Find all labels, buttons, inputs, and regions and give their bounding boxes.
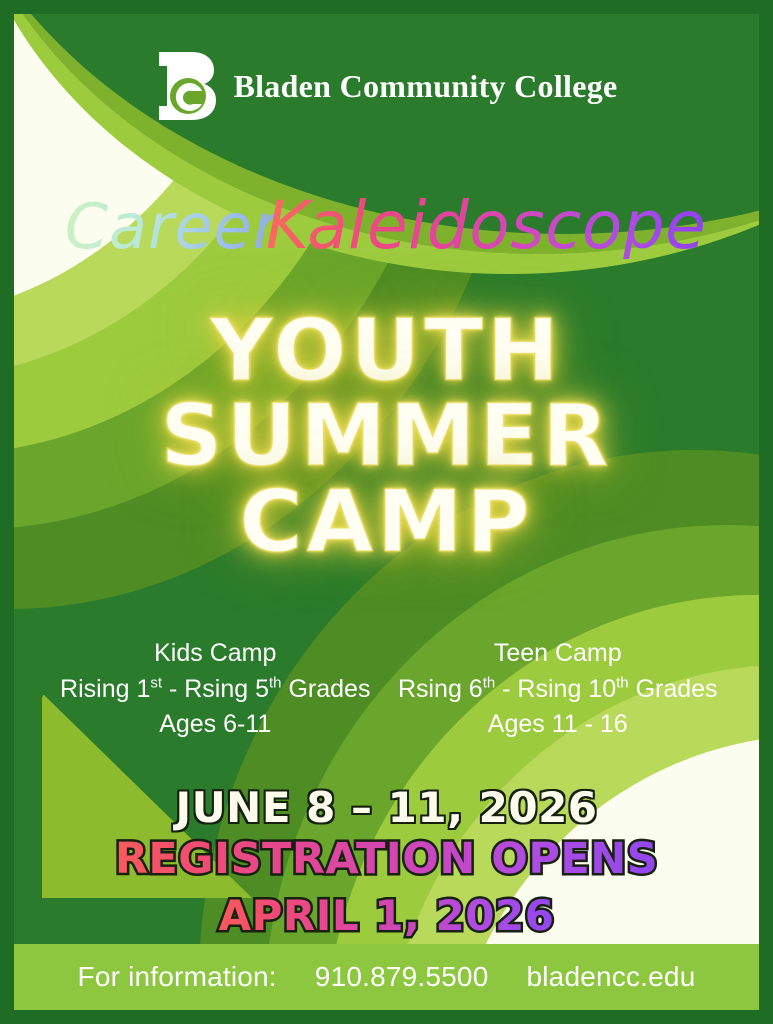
poster-inner-canvas: Bladen Community College Career Kaleidos… <box>14 14 759 1010</box>
camp-kids: Kids Camp Rising 1st - Rsing 5th Grades … <box>44 636 387 743</box>
camp-teen-ages: Ages 11 - 16 <box>387 707 730 743</box>
display-title-line-summer: SUMMER <box>14 395 759 478</box>
footer-contact-bar: For information: 910.879.5500 bladencc.e… <box>14 944 759 1010</box>
college-name: Bladen Community College <box>233 68 617 105</box>
camp-kids-grades-sup1: st <box>150 674 162 691</box>
registration-opens-label: REGISTRATION OPENS REGISTRATION OPENS <box>115 833 658 885</box>
bladen-b-logo-icon <box>155 50 217 122</box>
camp-kids-grades-sup2: th <box>269 674 282 691</box>
camp-kids-grades-suffix: Grades <box>282 675 371 703</box>
camp-kids-title: Kids Camp <box>44 636 387 672</box>
camp-teen-grades-mid: - Rsing 10 <box>495 675 616 703</box>
display-title-line-youth: YOUTH <box>14 310 759 393</box>
script-title-career: Career <box>65 196 280 258</box>
camp-teen-title: Teen Camp <box>387 636 730 672</box>
camp-dates: JUNE 8 – 11, 2026 <box>14 782 759 833</box>
footer-info-label: For information: <box>78 961 277 993</box>
camp-teen: Teen Camp Rsing 6th - Rsing 10th Grades … <box>387 636 730 743</box>
camp-teen-grades-suffix: Grades <box>629 675 718 703</box>
camp-kids-ages: Ages 6-11 <box>44 707 387 743</box>
footer-phone[interactable]: 910.879.5500 <box>315 961 489 993</box>
camp-teen-grades-sup1: th <box>483 674 496 691</box>
poster-content: Bladen Community College Career Kaleidos… <box>14 14 759 1010</box>
camp-teen-grades: Rsing 6th - Rsing 10th Grades <box>387 672 730 708</box>
display-title-line-camp: CAMP <box>14 481 759 564</box>
date-block: JUNE 8 – 11, 2026 REGISTRATION OPENS REG… <box>14 782 759 941</box>
camp-kids-grades-mid: - Rsing 5 <box>162 675 269 703</box>
registration-date-fill: APRIL 1, 2026 <box>219 891 555 940</box>
camp-teen-grades-prefix: Rsing 6 <box>398 675 483 703</box>
camp-teen-grades-sup2: th <box>616 674 629 691</box>
poster-header: Bladen Community College <box>14 50 759 122</box>
registration-opens-label-fill: REGISTRATION OPENS <box>115 834 658 884</box>
display-title: YOUTH SUMMER CAMP <box>14 310 759 564</box>
registration-date: APRIL 1, 2026 APRIL 1, 2026 <box>219 890 555 941</box>
script-title-kaleidoscope: Kaleidoscope <box>266 193 706 259</box>
camp-details: Kids Camp Rising 1st - Rsing 5th Grades … <box>44 636 729 743</box>
camp-kids-grades-prefix: Rising 1 <box>60 675 150 703</box>
footer-website[interactable]: bladencc.edu <box>526 961 695 993</box>
poster-root: Bladen Community College Career Kaleidos… <box>0 0 773 1024</box>
camp-kids-grades: Rising 1st - Rsing 5th Grades <box>44 672 387 708</box>
script-title: Career Kaleidoscope <box>14 196 759 259</box>
